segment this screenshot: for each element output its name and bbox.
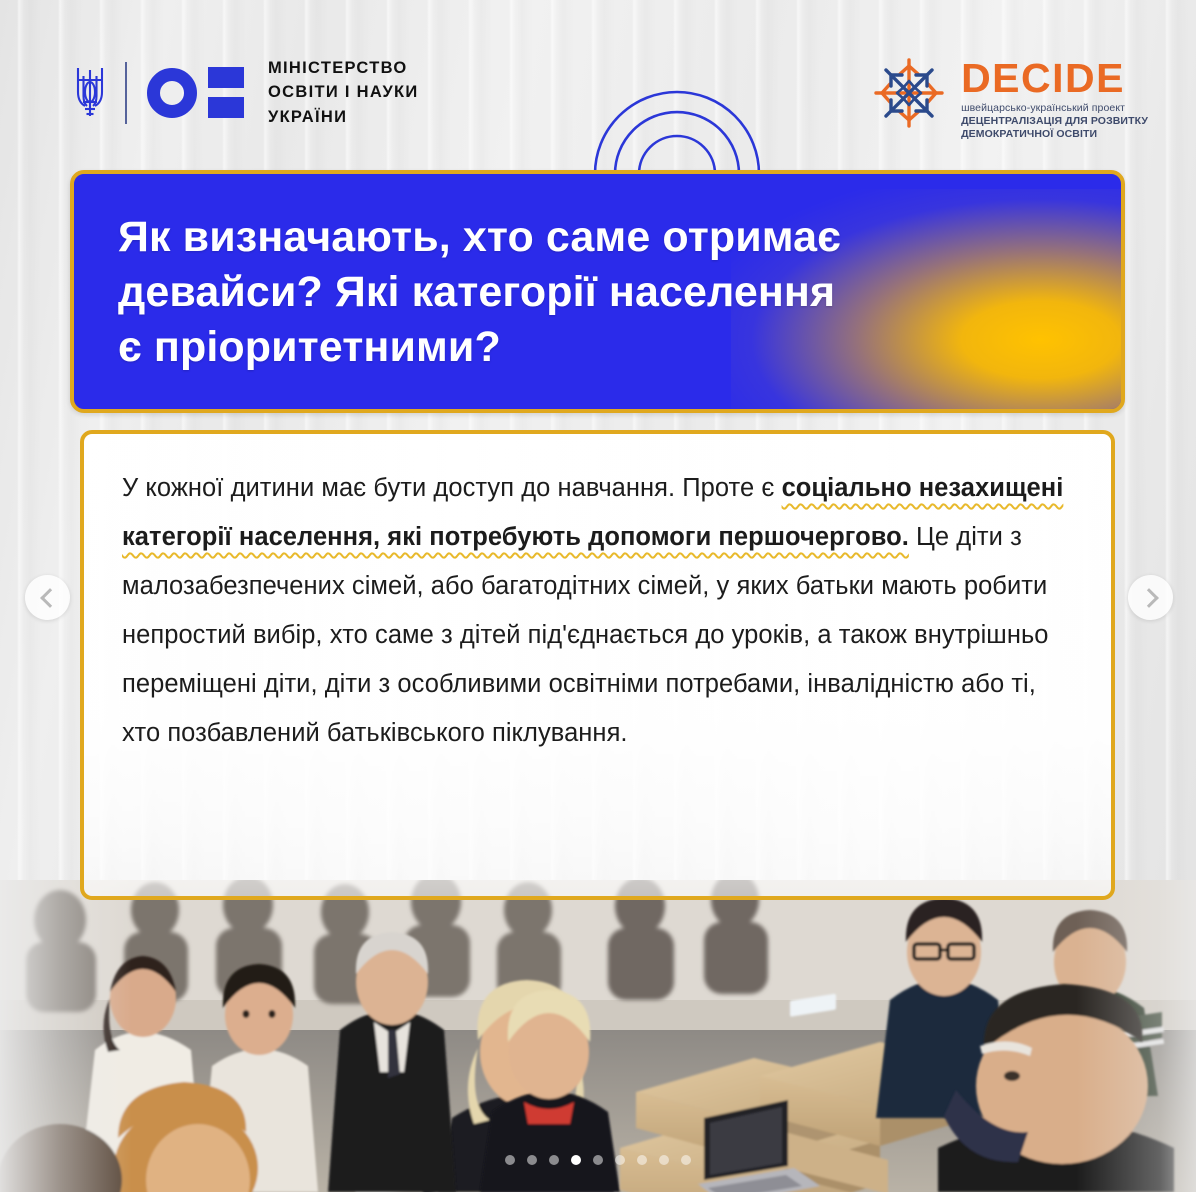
ministry-line-2: ОСВІТИ І НАУКИ [268, 80, 419, 104]
pagination-dot[interactable] [549, 1155, 559, 1165]
pagination-dot[interactable] [527, 1155, 537, 1165]
carousel-next-button[interactable] [1128, 575, 1173, 620]
crowd-photo [0, 880, 1196, 1192]
title-line-2: девайси? Які категорії населення [118, 265, 1079, 320]
ministry-of-education-logo: МІНІСТЕРСТВО ОСВІТИ І НАУКИ УКРАЇНИ [73, 56, 419, 129]
page-title: Як визначають, хто саме отримає девайси?… [74, 174, 1121, 375]
title-line-1: Як визначають, хто саме отримає [118, 210, 1079, 265]
decide-snowflake-icon [868, 52, 950, 134]
answer-part-2: Це діти з малозабезпечених сімей, або ба… [122, 523, 1049, 747]
pagination-dot[interactable] [571, 1155, 581, 1165]
answer-part-1: У кожної дитини має бути доступ до навча… [122, 474, 782, 502]
answer-body-card: У кожної дитини має бути доступ до навча… [80, 430, 1115, 900]
tryzub-icon [73, 62, 107, 124]
ministry-line-1: МІНІСТЕРСТВО [268, 56, 419, 80]
title-line-3: є пріоритетними? [118, 320, 1079, 375]
pagination-dot[interactable] [505, 1155, 515, 1165]
carousel-prev-button[interactable] [25, 575, 70, 620]
decide-tagline-line-1: ДЕЦЕНТРАЛІЗАЦІЯ ДЛЯ РОЗВИТКУ [961, 115, 1148, 129]
chevron-left-icon [40, 588, 60, 608]
page-header: МІНІСТЕРСТВО ОСВІТИ І НАУКИ УКРАЇНИ [0, 0, 1196, 160]
mon-squares-icon [208, 67, 244, 118]
pagination-dot[interactable] [681, 1155, 691, 1165]
pagination-dot[interactable] [593, 1155, 603, 1165]
decide-subtitle: швейцарсько-український проект [961, 102, 1148, 115]
question-title-banner: Як визначають, хто саме отримає девайси?… [70, 170, 1125, 413]
answer-text: У кожної дитини має бути доступ до навча… [84, 434, 1111, 758]
pagination-dot[interactable] [615, 1155, 625, 1165]
logo-divider [125, 62, 127, 124]
decide-tagline-line-2: ДЕМОКРАТИЧНОЇ ОСВІТИ [961, 128, 1148, 142]
pagination-dot[interactable] [659, 1155, 669, 1165]
ministry-line-3: УКРАЇНИ [268, 105, 419, 129]
chevron-right-icon [1139, 588, 1159, 608]
mon-ring-icon [147, 68, 197, 118]
carousel-pagination[interactable] [0, 1155, 1196, 1165]
decide-logo: DECIDE швейцарсько-український проект ДЕ… [868, 52, 1148, 142]
pagination-dot[interactable] [637, 1155, 647, 1165]
ministry-name: МІНІСТЕРСТВО ОСВІТИ І НАУКИ УКРАЇНИ [268, 56, 419, 129]
decide-wordmark: DECIDE [961, 60, 1148, 98]
